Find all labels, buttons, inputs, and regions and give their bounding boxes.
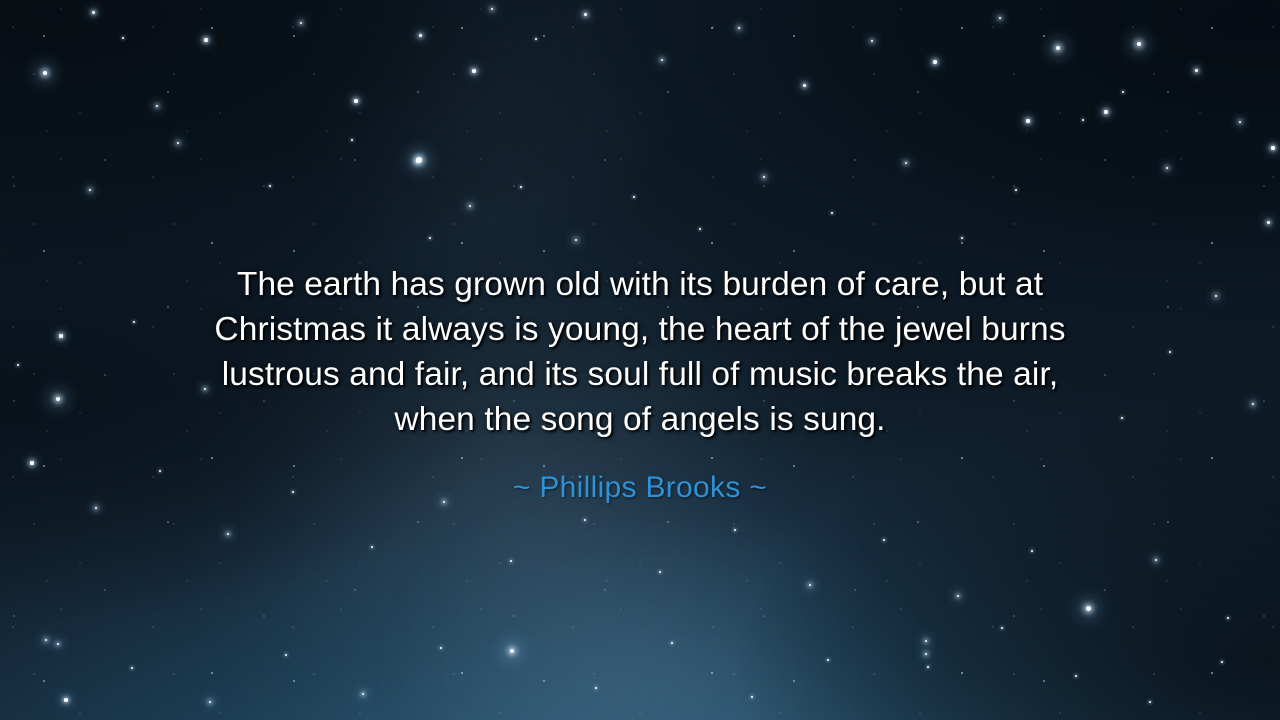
quote-card: The earth has grown old with its burden … [0,0,1280,720]
quote-text: The earth has grown old with its burden … [120,262,1160,442]
quote-attribution: ~ Phillips Brooks ~ [0,470,1280,506]
quote-block: The earth has grown old with its burden … [0,262,1280,442]
